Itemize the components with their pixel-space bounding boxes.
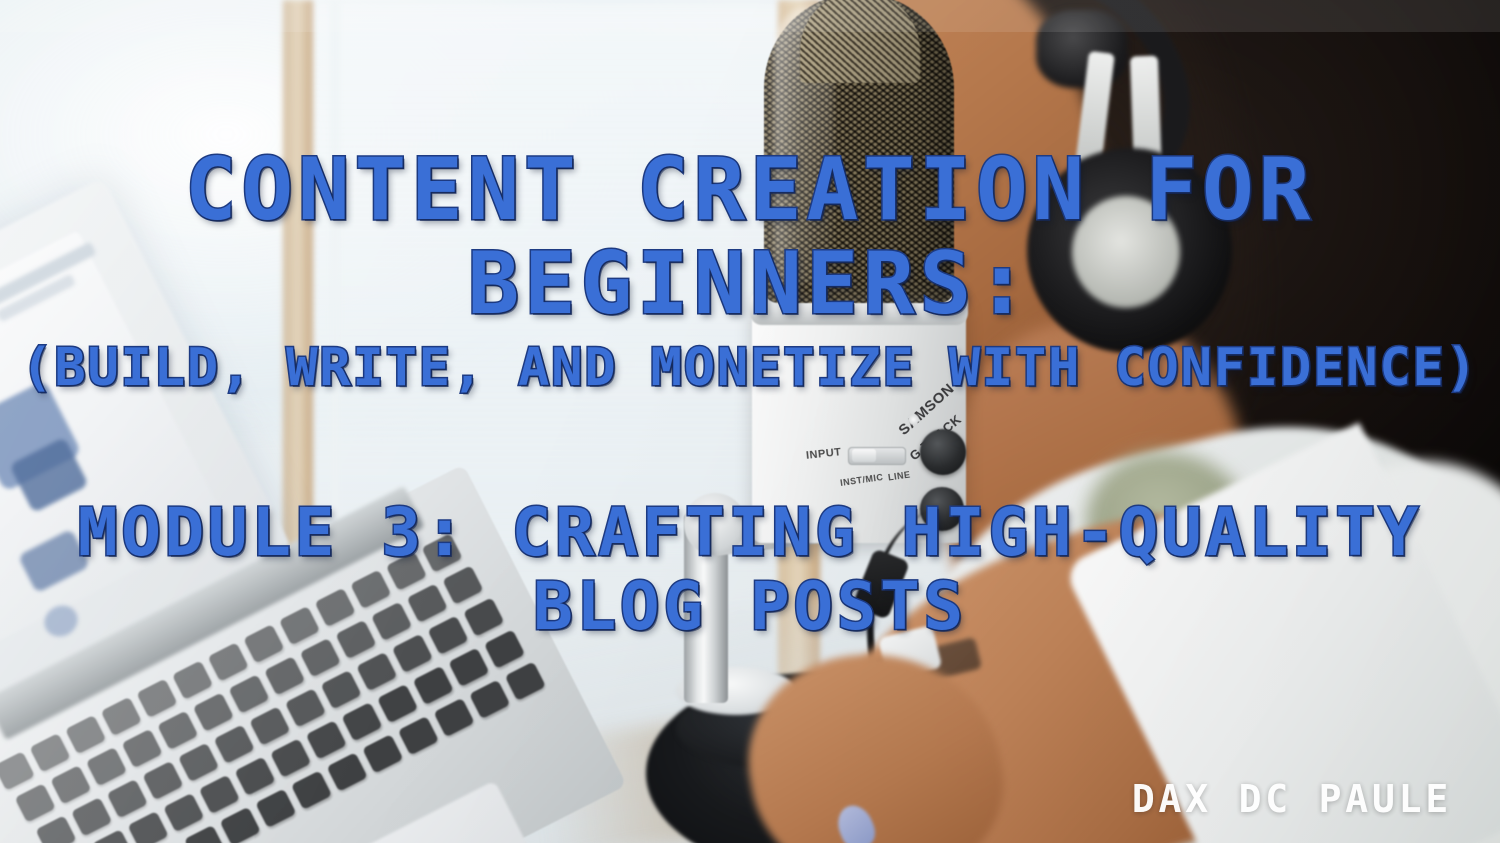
text-overlay: CONTENT CREATION FOR BEGINNERS: (BUILD, …: [0, 0, 1500, 843]
module-title-line-2: BLOG POSTS: [0, 568, 1500, 645]
author-watermark: DAX DC PAULE: [1132, 777, 1452, 821]
course-title-line-2: BEGINNERS:: [0, 234, 1500, 334]
title-card-graphic: SAMSON G TRACK INPUT INST/MIC LINE CONTE…: [0, 0, 1500, 843]
course-subtitle: (BUILD, WRITE, AND MONETIZE WITH CONFIDE…: [0, 338, 1500, 398]
course-title-line-1: CONTENT CREATION FOR: [0, 140, 1500, 240]
module-title-line-1: MODULE 3: CRAFTING HIGH-QUALITY: [0, 494, 1500, 571]
